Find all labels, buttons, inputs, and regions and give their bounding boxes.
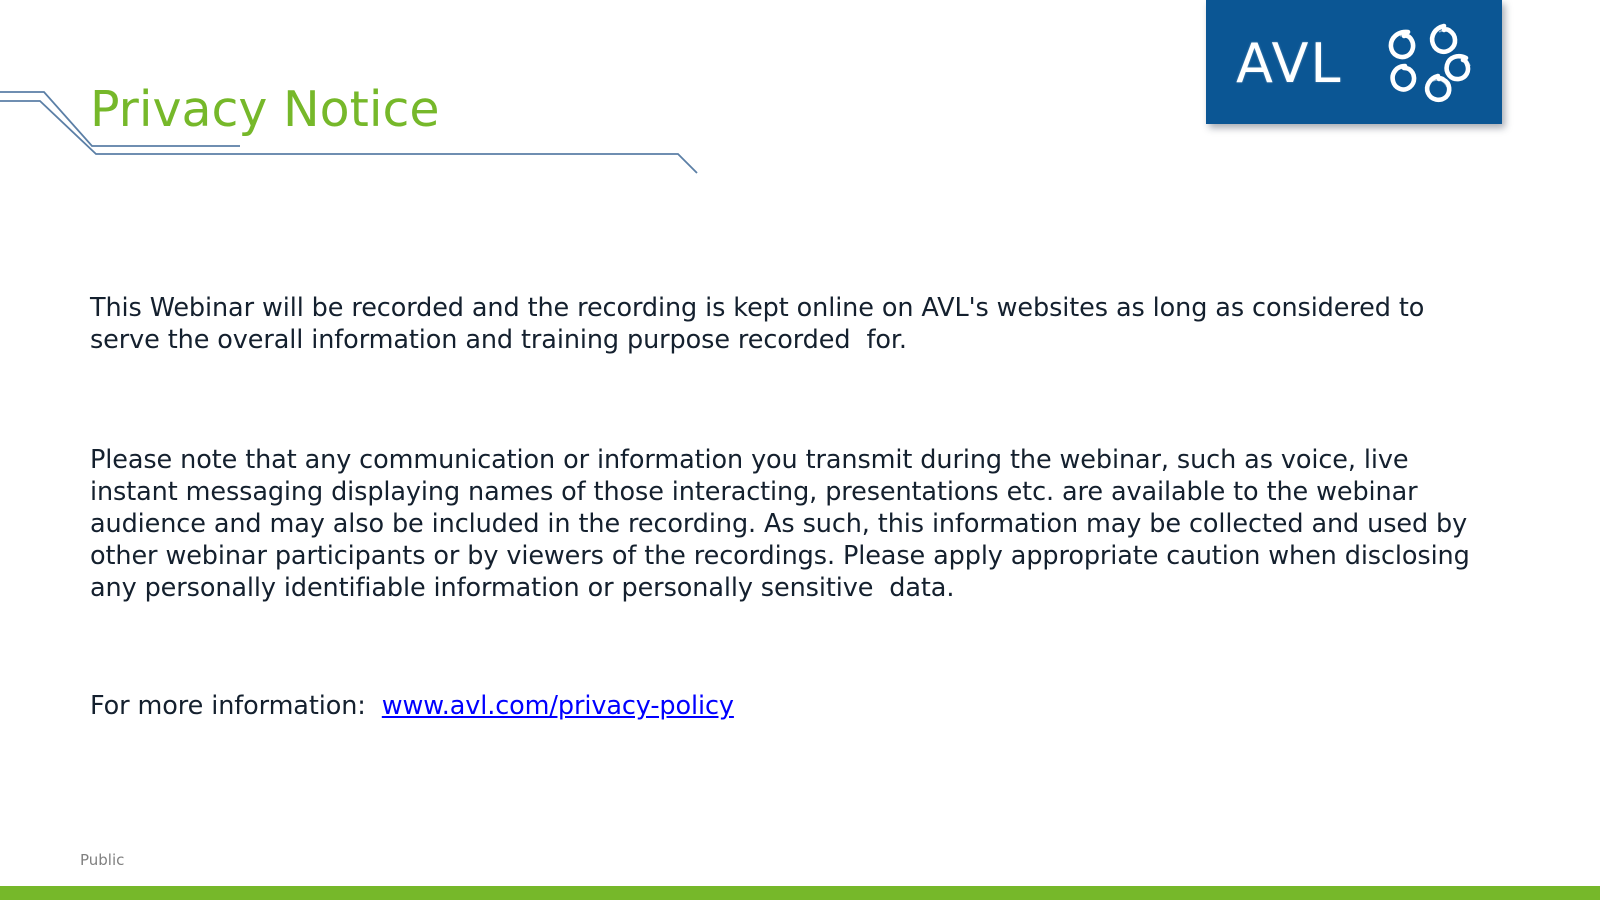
paragraph-recording-notice: This Webinar will be recorded and the re… <box>90 292 1490 356</box>
privacy-policy-link[interactable]: www.avl.com/privacy-policy <box>382 691 734 721</box>
more-information-label: For more information: <box>90 691 374 721</box>
footer-accent-bar <box>0 886 1600 900</box>
slide-canvas: AVL <box>0 0 1600 900</box>
more-information-line: For more information: www.avl.com/privac… <box>90 690 1490 722</box>
paragraph-communication-notice: Please note that any communication or in… <box>90 444 1490 604</box>
avl-pinwheel-icon <box>1378 18 1476 106</box>
classification-label: Public <box>80 853 124 868</box>
paragraph-spacer-2 <box>90 604 1490 690</box>
paragraph-spacer-1 <box>90 356 1490 444</box>
avl-logo: AVL <box>1206 0 1502 124</box>
avl-wordmark: AVL <box>1236 37 1343 91</box>
body-content: This Webinar will be recorded and the re… <box>90 292 1490 722</box>
page-title: Privacy Notice <box>90 83 440 138</box>
